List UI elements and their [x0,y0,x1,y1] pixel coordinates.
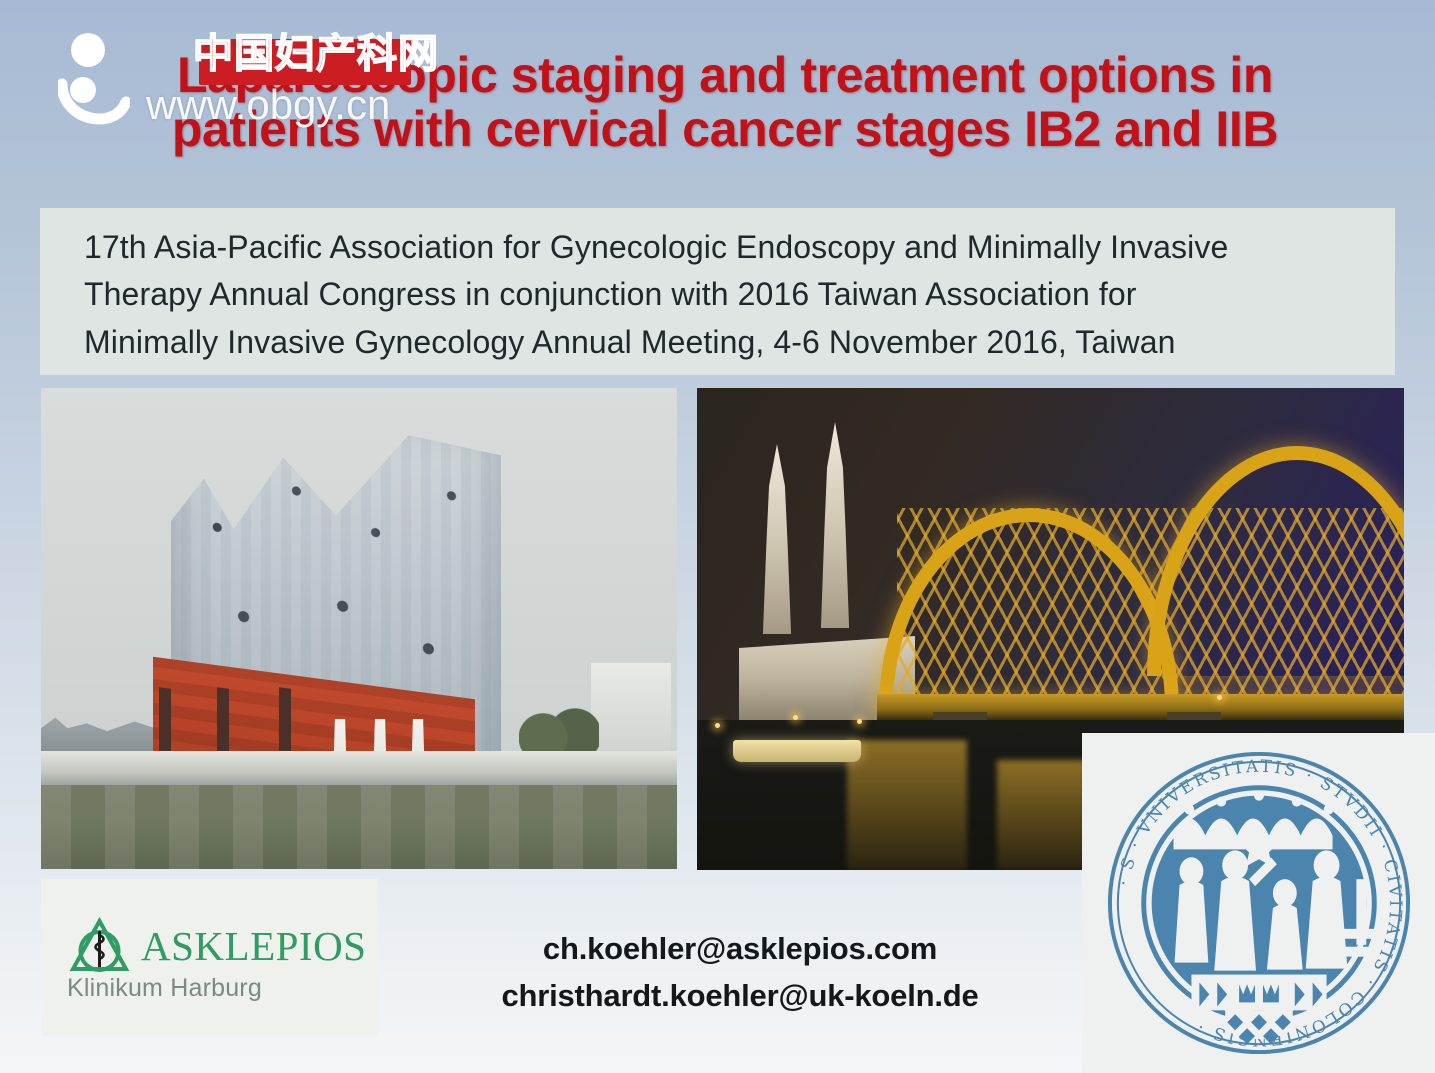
title-line-1: Laparoscopic staging and treatment optio… [95,48,1355,102]
title-line-2: patients with cervical cancer stages IB2… [95,102,1355,156]
asklepios-rod-triangle-icon [69,917,130,975]
water-reflection [847,740,967,870]
light-dot [1217,695,1222,700]
asklepios-wordmark: ASKLEPIOS [141,922,366,970]
cologne-river-boat [733,740,861,762]
light-dot [715,723,720,728]
cathedral-spire [813,422,857,628]
presentation-slide: Laparoscopic staging and treatment optio… [0,0,1435,1073]
hamburg-water [41,785,677,869]
email-asklepios[interactable]: ch.koehler@asklepios.com [430,925,1050,972]
light-dot [857,719,862,724]
asklepios-subtitle: Klinikum Harburg [67,974,262,1003]
asklepios-logo-row: ASKLEPIOS [69,917,366,975]
cathedral-spire [755,444,799,634]
contact-emails: ch.koehler@asklepios.com christhardt.koe… [430,925,1050,1019]
water-reflection [997,760,1087,870]
congress-line-3: Minimally Invasive Gynecology Annual Mee… [84,319,1351,366]
hamburg-right-building [591,663,671,759]
congress-line-1: 17th Asia-Pacific Association for Gyneco… [84,224,1351,271]
photo-hamburg [41,388,677,869]
asklepios-logo: ASKLEPIOS Klinikum Harburg [41,879,378,1036]
email-uk-koeln[interactable]: christhardt.koehler@uk-koeln.de [430,972,1050,1019]
congress-line-2: Therapy Annual Congress in conjunction w… [84,271,1351,318]
congress-info-box: 17th Asia-Pacific Association for Gyneco… [40,208,1395,375]
light-dot [793,715,798,720]
university-of-cologne-seal-icon: · S · VNIVERSITATIS · STVDII · CIVITATIS… [1100,744,1418,1062]
university-of-cologne-seal: · S · VNIVERSITATIS · STVDII · CIVITATIS… [1082,733,1435,1073]
slide-title: Laparoscopic staging and treatment optio… [95,48,1355,156]
hamburg-quay-wall [41,751,677,787]
